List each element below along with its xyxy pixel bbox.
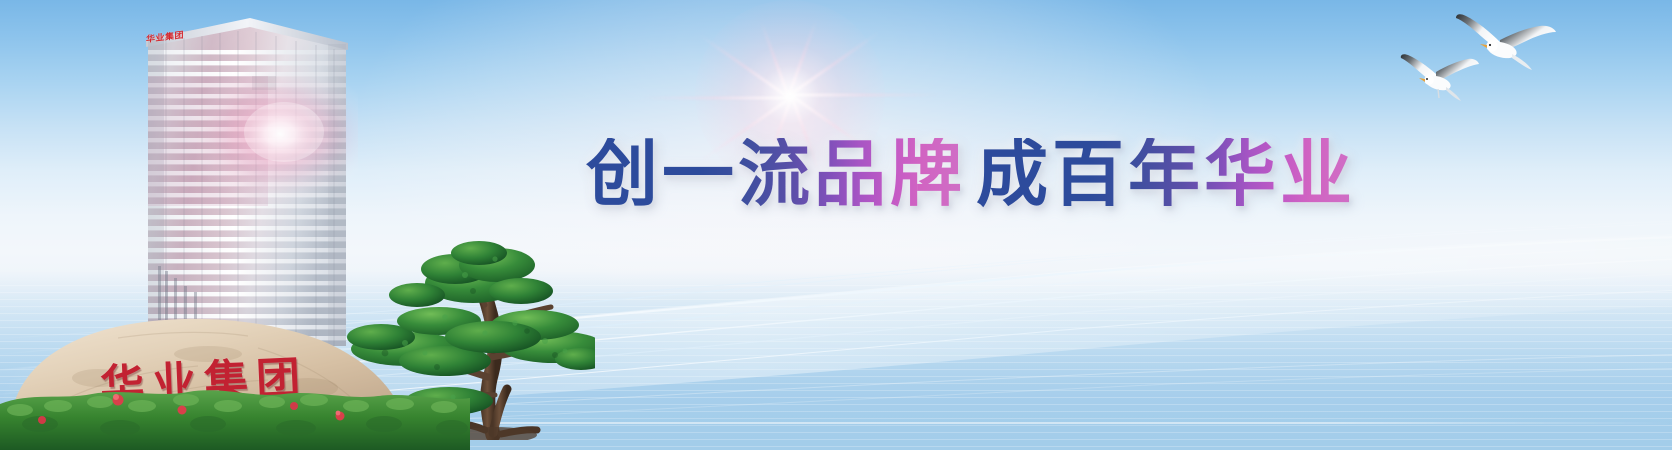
sun-ray bbox=[640, 97, 790, 100]
office-tower: 华业集团 bbox=[132, 16, 358, 346]
hero-banner: 华业集团 bbox=[0, 0, 1672, 450]
headline-phrase-1: 创一流品牌 bbox=[586, 138, 966, 210]
sun-ray bbox=[790, 94, 940, 97]
seagull-lower bbox=[1401, 54, 1479, 101]
headline: 创一流品牌 成百年华业 bbox=[586, 128, 1356, 220]
hedge-and-flowers bbox=[0, 380, 470, 450]
seagulls bbox=[1394, 8, 1564, 118]
headline-phrase-2: 成百年华业 bbox=[976, 138, 1356, 210]
